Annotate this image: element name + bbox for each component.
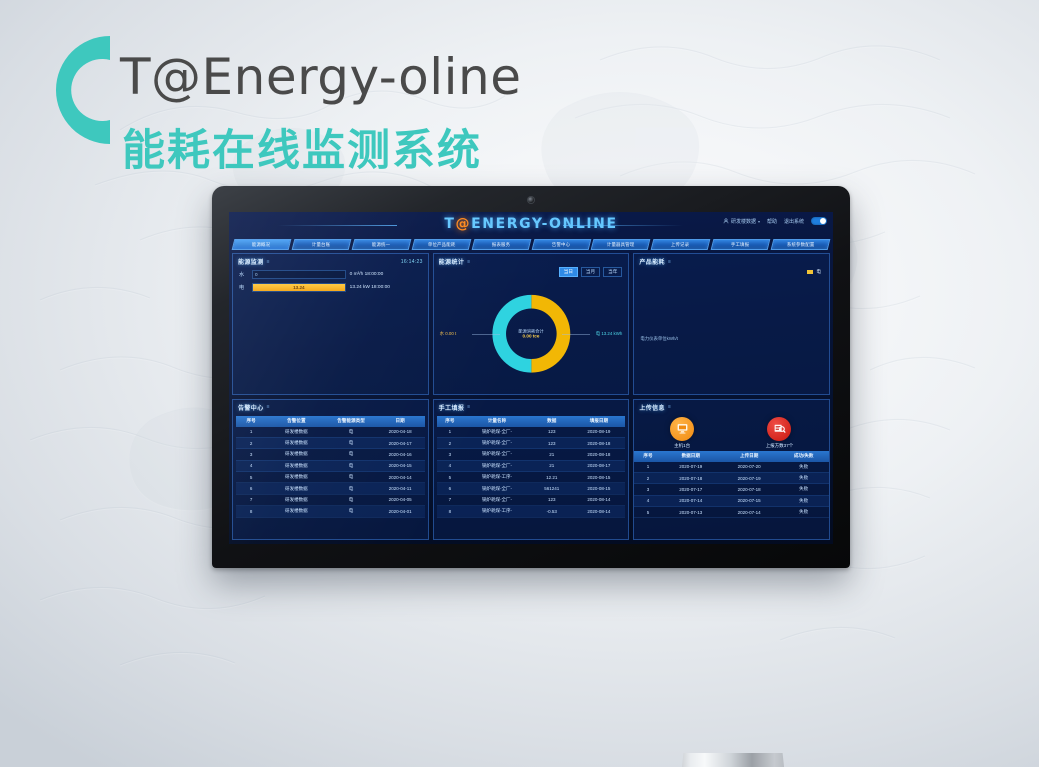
stat-host[interactable]: 主机1台 — [670, 417, 694, 449]
table-cell: 2020-07-13 — [662, 507, 720, 518]
manual-table-scroll[interactable]: 序号计量名称数据填报日期1锅炉耗煤-全厂-1232020-08-192锅炉耗煤-… — [437, 416, 626, 539]
meter-row-0: 水00 m³/h 18:00:00 — [233, 268, 428, 281]
chevron-down-icon: ▾ — [758, 219, 760, 224]
table-row[interactable]: 2研发楼数据电2020-04-17 — [236, 437, 425, 448]
table-cell: 研发楼数据 — [266, 427, 326, 438]
table-cell: 2 — [634, 472, 661, 483]
column-header: 序号 — [236, 416, 266, 427]
app-title-prefix: T — [444, 216, 455, 232]
nav-item-7[interactable]: 上传记录 — [651, 239, 711, 250]
panel-title: 上传信息 — [639, 403, 665, 412]
poster-canvas: T@Energy-oline 能耗在线监测系统 T@ENERGY-ONLINE — [0, 0, 1039, 767]
chart-legend: 电 — [807, 269, 821, 275]
table-cell: 锅炉耗煤-工序- — [463, 506, 531, 517]
table-cell: 2020-08-15 — [572, 483, 625, 494]
panel-energy-monitor: 能源监测 ≡ 16:14:23 水00 m³/h 18:00:00电13.241… — [232, 253, 429, 395]
meter-readout: 0 m³/h 18:00:00 — [350, 272, 422, 277]
table-cell: 2020-04-11 — [376, 483, 425, 494]
panel-menu-icon[interactable]: ≡ — [467, 259, 470, 265]
table-cell: 2020-07-17 — [662, 484, 720, 495]
corner-mark — [823, 253, 830, 260]
help-link[interactable]: 帮助 — [767, 218, 777, 225]
leader-line-left — [472, 334, 500, 335]
legend-swatch-electric — [807, 270, 813, 274]
table-cell: 2020-08-14 — [572, 494, 625, 505]
table-cell: 123 — [531, 437, 573, 448]
table-cell: 7 — [437, 494, 463, 505]
monitor-glyph — [676, 422, 689, 435]
panel-title: 告警中心 — [238, 403, 264, 412]
meter-fill: 13.24 — [253, 284, 345, 291]
dashboard-app: T@ENERGY-ONLINE 研发楼数据 ▾ 帮助 — [229, 212, 833, 544]
table-cell: 1 — [236, 427, 266, 438]
panel-title: 手工填报 — [439, 403, 465, 412]
nav-item-label: 上传记录 — [672, 242, 690, 248]
table-cell: 2020-04-14 — [376, 472, 425, 483]
table-cell: 2020-07-15 — [720, 495, 778, 506]
manual-entry-table: 序号计量名称数据填报日期1锅炉耗煤-全厂-1232020-08-192锅炉耗煤-… — [437, 416, 626, 518]
nav-item-8[interactable]: 手工填报 — [711, 239, 771, 250]
nav-item-label: 手工填报 — [732, 242, 750, 248]
table-cell: 4 — [236, 460, 266, 471]
nav-item-0[interactable]: 能源概况 — [232, 239, 292, 250]
panel-title: 能源统计 — [439, 257, 465, 266]
column-header: 日期 — [376, 416, 425, 427]
table-cell: 3 — [437, 449, 463, 460]
panel-menu-icon[interactable]: ≡ — [668, 259, 671, 265]
table-row[interactable]: 3研发楼数据电2020-04-16 — [236, 449, 425, 460]
webcam-icon — [528, 197, 534, 203]
dashboard-grid: 能源监测 ≡ 16:14:23 水00 m³/h 18:00:00电13.241… — [232, 253, 830, 540]
table-cell: 失败 — [778, 484, 829, 495]
corner-mark — [823, 533, 830, 540]
corner-mark — [823, 388, 830, 395]
donut-chart: 能源消耗合计 0.00 tce 水 0.00 t 电 13.24 kWh — [434, 276, 629, 392]
corner-mark — [422, 399, 429, 406]
table-cell: 研发楼数据 — [266, 494, 326, 505]
table-cell: 2020-08-19 — [572, 427, 625, 438]
donut-center-text: 能源消耗合计 0.00 tce — [518, 328, 543, 339]
nav-item-2[interactable]: 能源统一 — [351, 239, 411, 250]
panel-menu-icon[interactable]: ≡ — [467, 404, 470, 410]
table-row[interactable]: 1研发楼数据电2020-04-18 — [236, 427, 425, 438]
report-search-icon — [767, 417, 791, 441]
app-header: T@ENERGY-ONLINE 研发楼数据 ▾ 帮助 — [229, 212, 833, 238]
corner-mark — [633, 533, 640, 540]
table-cell: 锅炉耗煤-全厂- — [463, 449, 531, 460]
nav-item-label: 系统参数配置 — [787, 242, 815, 248]
table-row[interactable]: 5研发楼数据电2020-04-14 — [236, 472, 425, 483]
nav-item-9[interactable]: 系统参数配置 — [771, 239, 831, 250]
table-cell: 2020-08-15 — [572, 472, 625, 483]
table-row[interactable]: 42020-07-142020-07-15失败 — [634, 495, 829, 506]
stat-host-label: 主机1台 — [670, 443, 694, 449]
table-cell: 失败 — [778, 507, 829, 518]
donut-label-water: 水 0.00 t — [440, 331, 457, 337]
corner-mark — [823, 399, 830, 406]
table-cell: 电 — [327, 427, 376, 438]
nav-item-1[interactable]: 计量台账 — [292, 239, 352, 250]
table-cell: 锅炉耗煤-全厂- — [463, 427, 531, 438]
panel-title: 能源监测 — [238, 257, 264, 266]
app-title-suffix: ENERGY-ONLINE — [471, 216, 618, 232]
y-axis-label: 电力仪表单位kWh/t — [640, 336, 678, 342]
table-cell: 4 — [634, 495, 661, 506]
corner-mark — [633, 253, 640, 260]
upload-stat-group: 主机1台 — [634, 414, 829, 450]
panel-header: 上传信息 ≡ — [634, 400, 829, 414]
table-cell: 2020-04-15 — [376, 460, 425, 471]
app-title-at-symbol: @ — [456, 216, 472, 232]
panel-menu-icon[interactable]: ≡ — [668, 404, 671, 410]
alarm-table-scroll[interactable]: 序号告警位置告警能源类型日期1研发楼数据电2020-04-182研发楼数据电20… — [236, 416, 425, 539]
column-header: 序号 — [437, 416, 463, 427]
table-cell: 电 — [327, 494, 376, 505]
table-cell: 2 — [437, 437, 463, 448]
table-cell: 失败 — [778, 472, 829, 483]
table-cell: 研发楼数据 — [266, 506, 326, 517]
meter-track: 0 — [252, 270, 346, 279]
table-row[interactable]: 2锅炉耗煤-全厂-1232020-08-18 — [437, 437, 626, 448]
column-header: 计量名称 — [463, 416, 531, 427]
corner-mark — [232, 253, 239, 260]
panel-header: 告警中心 ≡ — [233, 400, 428, 414]
nav-item-label: 计量器具管理 — [607, 242, 635, 248]
table-cell: 6 — [236, 483, 266, 494]
table-row[interactable]: 8研发楼数据电2020-04-01 — [236, 506, 425, 517]
table-cell: 2020-04-17 — [376, 437, 425, 448]
meter-label: 电 — [239, 284, 248, 291]
table-row[interactable]: 6锅炉耗煤-全厂-5612412020-08-15 — [437, 483, 626, 494]
panel-product-energy: 产品能耗 ≡ 电 电力仪表单位kWh/t — [633, 253, 830, 395]
table-cell: 4 — [437, 460, 463, 471]
column-header: 告警位置 — [266, 416, 326, 427]
table-row[interactable]: 7锅炉耗煤-全厂-1232020-08-14 — [437, 494, 626, 505]
table-cell: 5 — [236, 472, 266, 483]
table-cell: 21 — [531, 460, 573, 471]
corner-mark — [422, 253, 429, 260]
table-cell: 7 — [236, 494, 266, 505]
table-cell: 2020-04-18 — [376, 427, 425, 438]
document-search-glyph — [773, 422, 786, 435]
panel-menu-icon[interactable]: ≡ — [267, 259, 270, 265]
table-row[interactable]: 5锅炉耗煤-工序-12.212020-08-15 — [437, 472, 626, 483]
table-cell: 6 — [437, 483, 463, 494]
brand-block: T@Energy-oline 能耗在线监测系统 — [50, 24, 610, 164]
table-cell: 锅炉耗煤-全厂- — [463, 483, 531, 494]
table-cell: 锅炉耗煤-全厂- — [463, 437, 531, 448]
table-row[interactable]: 6研发楼数据电2020-04-11 — [236, 483, 425, 494]
table-cell: 失败 — [778, 495, 829, 506]
table-cell: 2020-08-18 — [572, 449, 625, 460]
nav-item-4[interactable]: 报表服务 — [471, 239, 531, 250]
table-cell: 电 — [327, 449, 376, 460]
table-cell: 研发楼数据 — [266, 449, 326, 460]
table-cell: 锅炉耗煤-全厂- — [463, 494, 531, 505]
meter-list: 水00 m³/h 18:00:00电13.2413.24 kW 18:00:00 — [233, 268, 428, 294]
table-cell: 123 — [531, 494, 573, 505]
column-header: 数据 — [531, 416, 573, 427]
brand-subtitle: 能耗在线监测系统 — [122, 116, 482, 178]
panel-header: 产品能耗 ≡ — [634, 254, 829, 268]
table-cell: 2020-08-18 — [572, 437, 625, 448]
host-monitor-icon — [670, 417, 694, 441]
column-header: 告警能源类型 — [327, 416, 376, 427]
table-cell: 1 — [634, 462, 661, 473]
table-row[interactable]: 1锅炉耗煤-全厂-1232020-08-19 — [437, 427, 626, 438]
table-cell: 123 — [531, 427, 573, 438]
corner-mark — [622, 253, 629, 260]
table-cell: 2020-04-01 — [376, 506, 425, 517]
table-cell: 研发楼数据 — [266, 460, 326, 471]
table-cell: 2020-08-14 — [572, 506, 625, 517]
table-cell: 8 — [437, 506, 463, 517]
user-menu[interactable]: 研发楼数据 ▾ — [723, 218, 760, 225]
table-cell: 电 — [327, 483, 376, 494]
corner-mark — [622, 399, 629, 406]
table-row[interactable]: 12020-07-192020-07-20失败 — [634, 462, 829, 473]
table-cell: 电 — [327, 460, 376, 471]
table-cell: 电 — [327, 472, 376, 483]
monitor-screen: T@ENERGY-ONLINE 研发楼数据 ▾ 帮助 — [229, 212, 833, 544]
table-cell: 5 — [634, 507, 661, 518]
meter-bar-value: 13.24 — [293, 285, 305, 290]
legend-label-electric: 电 — [816, 269, 821, 275]
column-header: 数据日期 — [662, 451, 720, 462]
nav-item-5[interactable]: 告警中心 — [531, 239, 591, 250]
table-cell: 研发楼数据 — [266, 472, 326, 483]
brand-title: T@Energy-oline — [120, 48, 522, 106]
meter-zero-value: 0 — [255, 272, 258, 277]
nav-item-label: 告警中心 — [552, 242, 570, 248]
table-cell: -0.53 — [531, 506, 573, 517]
corner-mark — [232, 399, 239, 406]
corner-mark — [633, 388, 640, 395]
table-cell: 电 — [327, 437, 376, 448]
leader-line-right — [562, 334, 590, 335]
nav-item-label: 计量台账 — [312, 242, 330, 248]
logout-link[interactable]: 退出系统 — [784, 218, 804, 225]
main-nav: 能源概况计量台账能源统一单位产品能耗报表服务告警中心计量器具管理上传记录手工填报… — [229, 238, 833, 251]
corner-mark — [633, 399, 640, 406]
table-cell: 2020-07-14 — [720, 507, 778, 518]
column-header: 序号 — [634, 451, 661, 462]
monitor-device: T@ENERGY-ONLINE 研发楼数据 ▾ 帮助 — [212, 186, 850, 568]
panel-manual-entry: 手工填报 ≡ 序号计量名称数据填报日期1锅炉耗煤-全厂-1232020-08-1… — [433, 399, 630, 541]
column-header: 成功/失败 — [778, 451, 829, 462]
table-cell: 2020-07-19 — [662, 462, 720, 473]
table-row[interactable]: 3锅炉耗煤-全厂-212020-08-18 — [437, 449, 626, 460]
panel-header: 能源监测 ≡ 16:14:23 — [233, 254, 428, 268]
c-arc-logo-icon — [50, 28, 124, 152]
panel-title: 产品能耗 — [639, 257, 665, 266]
table-cell: 1 — [437, 427, 463, 438]
user-name: 研发楼数据 — [731, 218, 756, 225]
table-cell: 2020-08-17 — [572, 460, 625, 471]
panel-upload-info: 上传信息 ≡ — [633, 399, 830, 541]
table-cell: 2020-04-05 — [376, 494, 425, 505]
table-cell: 12.21 — [531, 472, 573, 483]
nav-item-3[interactable]: 单位产品能耗 — [411, 239, 471, 250]
panel-header: 手工填报 ≡ — [434, 400, 629, 414]
alarm-table: 序号告警位置告警能源类型日期1研发楼数据电2020-04-182研发楼数据电20… — [236, 416, 425, 518]
meter-readout: 13.24 kW 18:00:00 — [350, 285, 422, 290]
user-area: 研发楼数据 ▾ 帮助 退出系统 — [723, 217, 827, 225]
table-cell: 3 — [236, 449, 266, 460]
nav-item-label: 报表服务 — [492, 242, 510, 248]
table-cell: 2 — [236, 437, 266, 448]
clock-readout: 16:14:23 — [401, 259, 423, 265]
table-cell: 21 — [531, 449, 573, 460]
monitor-bezel: T@ENERGY-ONLINE 研发楼数据 ▾ 帮助 — [212, 186, 850, 568]
table-cell: 2020-07-18 — [662, 472, 720, 483]
column-header: 上传日期 — [720, 451, 778, 462]
donut-center-value: 0.00 tce — [518, 334, 543, 340]
meter-label: 水 — [239, 271, 248, 278]
table-cell: 561241 — [531, 483, 573, 494]
table-cell: 锅炉耗煤-工序- — [463, 472, 531, 483]
panel-header: 能源统计 ≡ — [434, 254, 629, 268]
panel-energy-stats: 能源统计 ≡ 当日当月当年 能源消耗 — [433, 253, 630, 395]
corner-mark — [232, 388, 239, 395]
donut-label-electric: 电 13.24 kWh — [596, 331, 623, 337]
panel-alarm-center: 告警中心 ≡ 序号告警位置告警能源类型日期1研发楼数据电2020-04-182研… — [232, 399, 429, 541]
table-cell: 2020-07-20 — [720, 462, 778, 473]
panel-menu-icon[interactable]: ≡ — [267, 404, 270, 410]
upload-table: 序号数据日期上传日期成功/失败12020-07-192020-07-20失败22… — [634, 451, 829, 519]
corner-mark — [433, 399, 440, 406]
nav-item-6[interactable]: 计量器具管理 — [591, 239, 651, 250]
corner-mark — [433, 253, 440, 260]
corner-mark — [422, 388, 429, 395]
table-cell: 2020-07-18 — [720, 484, 778, 495]
table-cell: 研发楼数据 — [266, 437, 326, 448]
nav-item-label: 能源概况 — [252, 242, 270, 248]
table-row[interactable]: 8锅炉耗煤-工序--0.532020-08-14 — [437, 506, 626, 517]
meter-track: 13.24 — [252, 283, 346, 292]
table-row[interactable]: 52020-07-132020-07-14失败 — [634, 507, 829, 518]
table-row[interactable]: 32020-07-172020-07-18失败 — [634, 484, 829, 495]
table-row[interactable]: 22020-07-182020-07-19失败 — [634, 472, 829, 483]
table-cell: 2020-07-19 — [720, 472, 778, 483]
table-cell: 8 — [236, 506, 266, 517]
toggle-switch-icon[interactable] — [811, 217, 827, 225]
stat-reports-label: 上报方数37个 — [766, 443, 794, 449]
monitor-stand — [674, 753, 792, 767]
table-row[interactable]: 4研发楼数据电2020-04-15 — [236, 460, 425, 471]
meter-row-1: 电13.2413.24 kW 18:00:00 — [233, 281, 428, 294]
table-cell: 锅炉耗煤-全厂- — [463, 460, 531, 471]
nav-item-label: 能源统一 — [372, 242, 390, 248]
table-cell: 研发楼数据 — [266, 483, 326, 494]
column-header: 填报日期 — [572, 416, 625, 427]
nav-item-label: 单位产品能耗 — [427, 242, 455, 248]
table-cell: 失败 — [778, 462, 829, 473]
table-row[interactable]: 4锅炉耗煤-全厂-212020-08-17 — [437, 460, 626, 471]
stat-reports[interactable]: 上报方数37个 — [766, 417, 794, 449]
table-row[interactable]: 7研发楼数据电2020-04-05 — [236, 494, 425, 505]
table-cell: 电 — [327, 506, 376, 517]
table-cell: 3 — [634, 484, 661, 495]
table-cell: 2020-04-16 — [376, 449, 425, 460]
table-cell: 5 — [437, 472, 463, 483]
table-cell: 2020-07-14 — [662, 495, 720, 506]
person-icon — [723, 218, 729, 224]
